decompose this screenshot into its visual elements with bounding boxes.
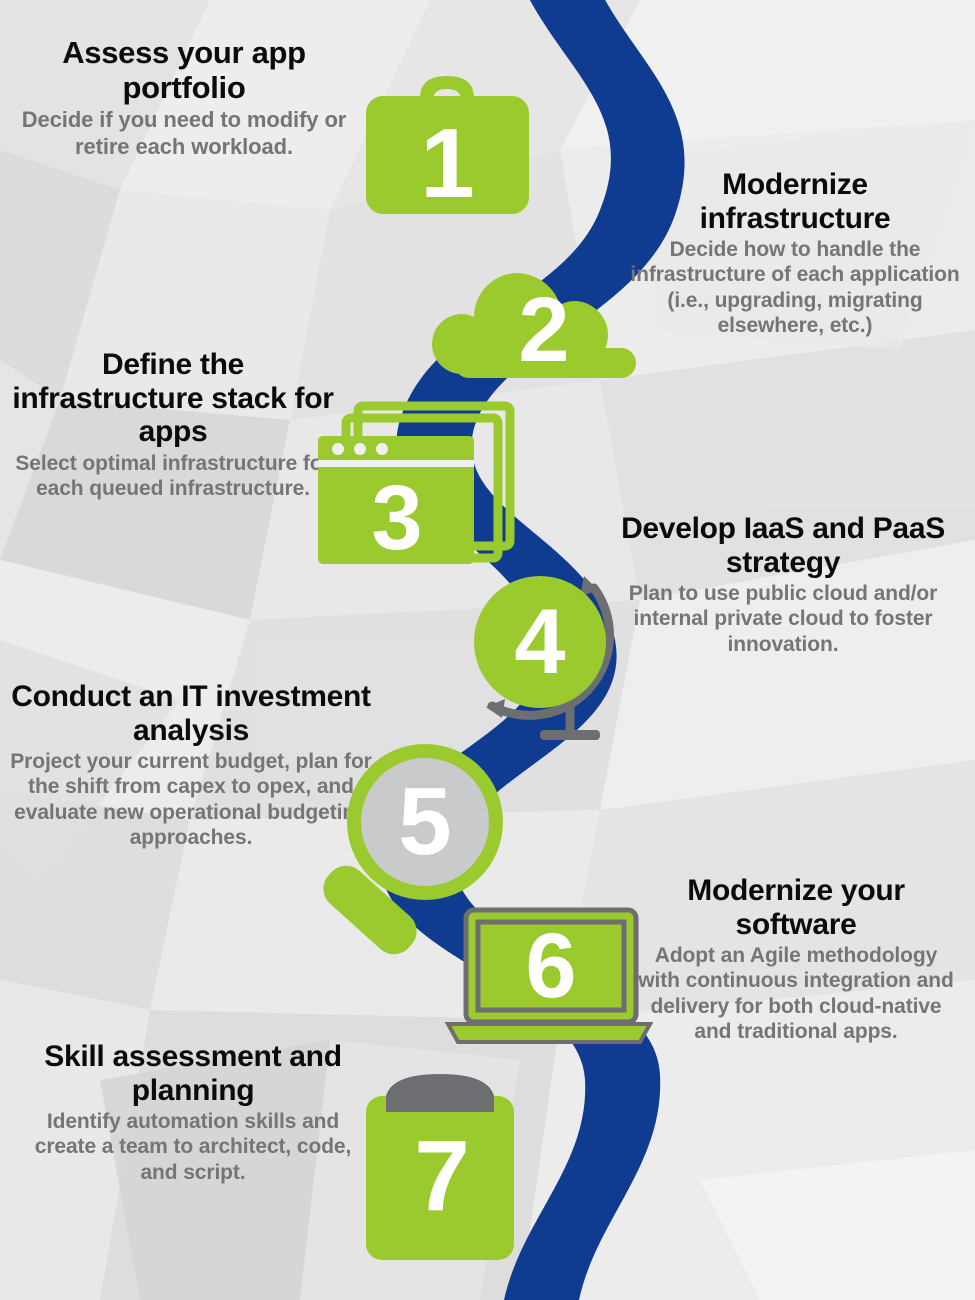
step-2-title: Modernize infrastructure: [630, 168, 960, 235]
step-7-icon-wrap: 7: [358, 1062, 523, 1272]
step-4-body: Plan to use public cloud and/or internal…: [618, 581, 948, 657]
step-1-icon-wrap: 1: [360, 62, 535, 222]
step-2-icon-wrap: 2: [432, 262, 657, 382]
step-7-body: Identify automation skills and create a …: [28, 1109, 358, 1185]
step-3-text-block: Define the infrastructure stack for apps…: [8, 348, 338, 501]
step-6-icon-wrap: 6: [442, 902, 654, 1050]
step-7-number: 7: [368, 1126, 516, 1226]
step-7-text-block: Skill assessment and planning Identify a…: [28, 1040, 358, 1185]
step-1-title: Assess your app portfolio: [14, 36, 354, 105]
step-4-text-block: Develop IaaS and PaaS strategy Plan to u…: [618, 512, 948, 657]
step-4-number: 4: [478, 596, 602, 688]
step-3-number: 3: [322, 472, 472, 564]
step-6-body: Adopt an Agile methodology with continuo…: [636, 943, 956, 1044]
step-1-text-block: Assess your app portfolio Decide if you …: [14, 36, 354, 160]
step-6-number: 6: [498, 920, 604, 1012]
step-4-title: Develop IaaS and PaaS strategy: [618, 512, 948, 579]
step-1-body: Decide if you need to modify or retire e…: [14, 107, 354, 160]
step-3-title: Define the infrastructure stack for apps: [8, 348, 338, 449]
step-4-icon-wrap: 4: [458, 562, 633, 752]
step-6-title: Modernize your software: [636, 874, 956, 941]
step-1-number: 1: [360, 114, 535, 212]
step-2-body: Decide how to handle the infrastructure …: [630, 237, 960, 338]
step-6-text-block: Modernize your software Adopt an Agile m…: [636, 874, 956, 1044]
step-7-title: Skill assessment and planning: [28, 1040, 358, 1107]
step-5-number: 5: [365, 774, 485, 870]
step-2-text-block: Modernize infrastructure Decide how to h…: [630, 168, 960, 338]
step-3-icon-wrap: 3: [312, 398, 522, 583]
step-2-number: 2: [484, 284, 604, 376]
step-3-body: Select optimal infrastructure for each q…: [8, 451, 338, 501]
infographic-canvas: Assess your app portfolio Decide if you …: [0, 0, 975, 1300]
